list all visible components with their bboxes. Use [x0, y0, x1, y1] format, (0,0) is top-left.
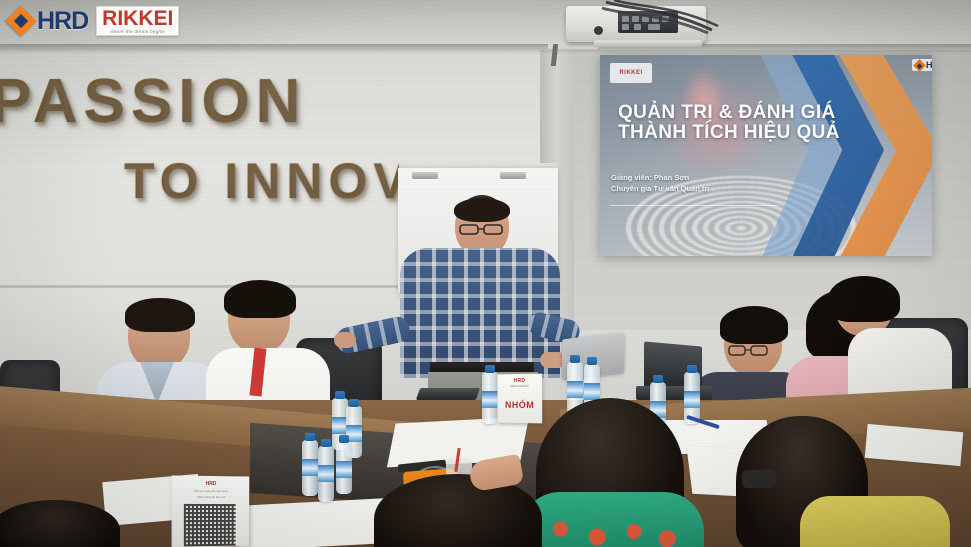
front-2-yellow-top: [800, 496, 950, 547]
brand-overlay: HRD RIKKEI where the dream begins: [10, 4, 179, 38]
projector-cables: [600, 0, 720, 34]
qr-card-caption-1: Trải cảm ngay để nhận thêm: [178, 490, 244, 494]
front-1-green-floral-top: [520, 492, 704, 547]
water-bottle-6: [482, 372, 498, 424]
slide-logo-text: RIKKEI: [619, 70, 642, 76]
participant-right-1-hair: [720, 306, 788, 344]
ceiling-shadow: [0, 44, 971, 54]
instructor-hair: [454, 198, 510, 222]
participant-right-1-eyeglasses-icon: [728, 344, 770, 357]
hrd-logo: HRD: [10, 7, 88, 36]
rikkei-tagline: where the dream begins: [110, 29, 165, 34]
tent-card-logo: HRD: [514, 378, 526, 384]
slide-title-line-1: QUẢN TRỊ & ĐÁNH GIÁ: [618, 103, 918, 123]
table-tent-card: HRD HRD ACADEMY NHÓM: [498, 374, 543, 424]
hrd-diamond-icon: [5, 5, 36, 36]
participant-left-1-hair: [125, 298, 195, 332]
slide-hrd-text: HRD: [926, 60, 932, 70]
tent-card-logo-sub: HRD ACADEMY: [510, 385, 529, 388]
slide-hrd-badge: HRD: [912, 59, 932, 71]
slide-title: QUẢN TRỊ & ĐÁNH GIÁ THÀNH TÍCH HIỆU QUẢ: [618, 103, 918, 143]
tent-card-label: NHÓM: [505, 400, 534, 410]
hrd-diamond-icon: [913, 59, 926, 72]
qr-standee-card: HRD Trải cảm ngay để nhận thêm nhiều thô…: [172, 475, 250, 547]
document-sheet-3: [237, 498, 389, 547]
slide-presenter: Giảng viên: Phan Sơn Chuyên gia Tư vấn Q…: [611, 173, 831, 195]
slide-title-line-2: THÀNH TÍCH HIỆU QUẢ: [618, 123, 918, 143]
front-2-phone[interactable]: [742, 470, 776, 488]
wall-seam: [0, 285, 405, 288]
slide-rikkei-logo: RIKKEI: [610, 63, 652, 83]
photo-canvas: PASSION TO INNOVATE RIKKEI: [0, 0, 971, 547]
qr-card-logo: HRD: [178, 481, 244, 488]
rikkei-logo-text: RIKKEI: [102, 9, 173, 29]
participant-right-3-hair: [828, 276, 900, 322]
wall-sign-passion: PASSION: [0, 66, 306, 137]
water-bottle-4: [318, 446, 334, 502]
laptop-dark-2[interactable]: [416, 388, 480, 400]
instructor-left-hand: [334, 332, 356, 348]
slide-presenter-name: Giảng viên: Phan Sơn: [611, 173, 831, 184]
flipchart-clip-left: [412, 172, 438, 179]
rikkei-logo: RIKKEI where the dream begins: [96, 6, 179, 37]
hrd-logo-text: HRD: [37, 7, 88, 36]
qr-code-icon: [184, 504, 236, 546]
eyeglasses-icon: [458, 222, 506, 236]
slide-divider: [610, 205, 778, 206]
participant-left-2-hair: [224, 280, 296, 318]
slide-presenter-title: Chuyên gia Tư vấn Quản trị: [611, 184, 831, 195]
water-bottle-3: [302, 440, 318, 496]
participant-left-2-logo: [282, 368, 312, 386]
water-bottle-5: [336, 442, 352, 494]
projection-screen: RIKKEI QUẢN TRỊ & ĐÁNH GIÁ THÀNH TÍCH HI…: [600, 55, 932, 256]
laptop-dark-1-base[interactable]: [636, 386, 712, 400]
qr-card-caption-2: nhiều thông tin hữu ích: [178, 496, 244, 500]
flipchart-clip-right: [500, 172, 526, 179]
projector-mount-plate: [594, 40, 702, 47]
